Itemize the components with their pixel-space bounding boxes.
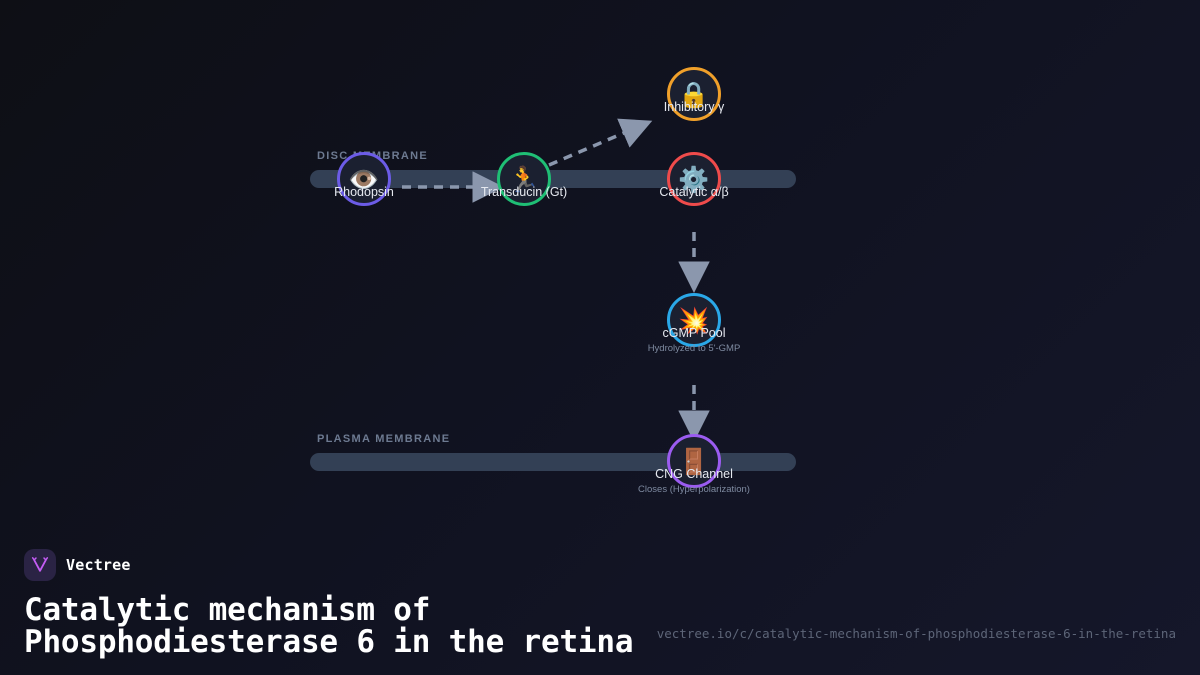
node-cng-channel[interactable]: 🚪 CNG Channel Closes (Hyperpolarization) (667, 434, 721, 488)
page-url: vectree.io/c/catalytic-mechanism-of-phos… (657, 626, 1176, 641)
node-catalytic-label: Catalytic α/β (659, 184, 728, 201)
node-transducin[interactable]: 🏃 Transducin (Gt) (497, 152, 551, 206)
node-catalytic-text: Catalytic α/β (659, 184, 728, 201)
node-rhodopsin[interactable]: 👁️ Rhodopsin (337, 152, 391, 206)
node-transducin-label: Transducin (Gt) (481, 184, 567, 201)
node-catalytic[interactable]: ⚙️ Catalytic α/β (667, 152, 721, 206)
page-title: Catalytic mechanism of Phosphodiesterase… (24, 595, 684, 659)
node-cng-channel-label: CNG Channel (638, 466, 750, 483)
brand: Vectree (24, 549, 1176, 581)
node-rhodopsin-label: Rhodopsin (334, 184, 394, 201)
edge-transducin-to-inhibitory (549, 129, 633, 165)
node-inhibitory-gamma[interactable]: 🔒 Inhibitory γ (667, 67, 721, 121)
node-cgmp-pool-label: cGMP Pool (648, 325, 741, 342)
node-cng-channel-text: CNG Channel Closes (Hyperpolarization) (638, 466, 750, 496)
node-cgmp-pool-sublabel: Hydrolyzed to 5'-GMP (648, 343, 741, 355)
node-cgmp-pool[interactable]: 💥 cGMP Pool Hydrolyzed to 5'-GMP (667, 293, 721, 347)
node-rhodopsin-text: Rhodopsin (334, 184, 394, 201)
brand-name: Vectree (66, 556, 131, 574)
node-inhibitory-gamma-label: Inhibitory γ (664, 99, 724, 116)
node-cng-channel-sublabel: Closes (Hyperpolarization) (638, 484, 750, 496)
vectree-logo-icon (24, 549, 56, 581)
node-transducin-text: Transducin (Gt) (481, 184, 567, 201)
node-inhibitory-gamma-text: Inhibitory γ (664, 99, 724, 116)
footer: Vectree Catalytic mechanism of Phosphodi… (0, 549, 1200, 675)
node-cgmp-pool-text: cGMP Pool Hydrolyzed to 5'-GMP (648, 325, 741, 355)
